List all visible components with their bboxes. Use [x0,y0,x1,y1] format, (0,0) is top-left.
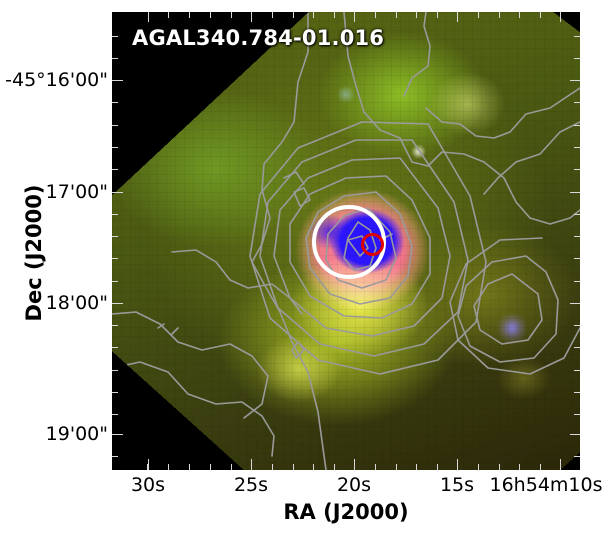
x-ticklabel-10s: 16h54m10s [490,474,603,496]
y-ticklabel-18: 18'00" [46,292,108,314]
image-panel[interactable]: AGAL340.784-01.016 [112,12,580,470]
x-ticklabel-20s: 20s [337,474,371,496]
x-ticklabel-15s: 15s [440,474,474,496]
x-axis-title: RA (J2000) [112,500,580,524]
y-axis-title: Dec (J2000) [22,123,46,383]
y-ticklabel-16: -45°16'00" [5,69,108,91]
figure-root: AGAL340.784-01.016 [0,0,606,533]
y-ticklabel-17: 17'00" [46,181,108,203]
x-ticklabel-30s: 30s [131,474,165,496]
red-source-circle[interactable] [361,233,384,256]
y-ticklabel-19: 19'00" [46,423,108,445]
x-ticklabel-25s: 25s [234,474,268,496]
source-title: AGAL340.784-01.016 [132,26,384,50]
